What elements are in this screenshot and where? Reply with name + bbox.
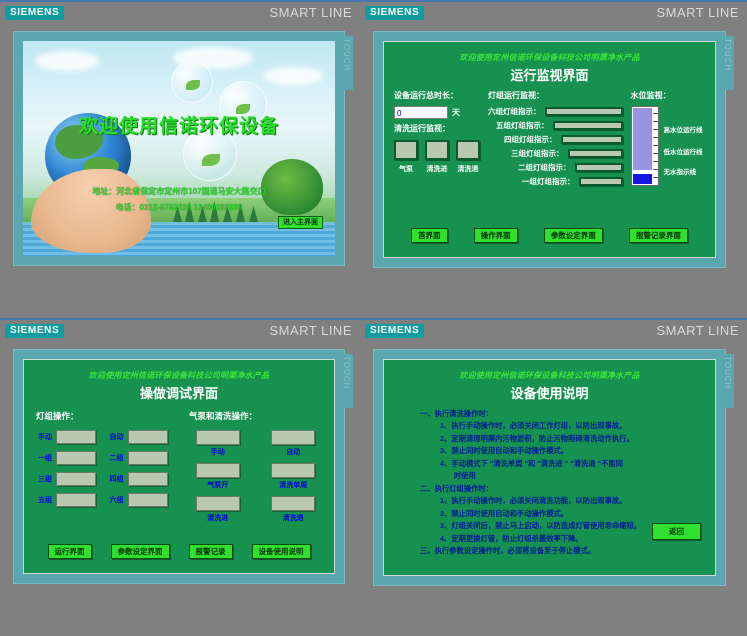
clean-reverse-label: 清洗退 [271, 513, 315, 523]
lamp-g4-button[interactable] [128, 472, 168, 486]
lamp-row: 六组灯组指示： [488, 106, 623, 117]
instruction-line: 2、禁止同时使用自动和手动操作模式。 [440, 509, 705, 519]
smart-line-label: SMART LINE [656, 323, 739, 338]
nav-button-row: 首界面 操作界面 参数设定界面 报警记录界面 [384, 228, 715, 243]
indicator-clean-forward [425, 140, 449, 160]
lamp-label: 六组灯组指示： [488, 106, 541, 117]
nav-alarm-record-button[interactable]: 报警记录 [189, 544, 233, 559]
lamp-g3-button[interactable] [56, 472, 96, 486]
lamp-g4-label: 四组 [108, 474, 124, 484]
device-frame: TOUCH 欢迎使用定州信诺环保设备科技公司明渠净水产品 运行监视界面 设备运行… [373, 31, 726, 268]
runtime-label: 设备运行总时长： [394, 90, 480, 101]
device-frame: TOUCH 欢迎使用定州信诺环保设备科技公司明渠净水产品 操做调试界面 灯组操作… [13, 349, 345, 584]
label-clean-reverse: 清洗退 [456, 164, 480, 174]
lamp-auto-button[interactable] [128, 430, 168, 444]
device-frame: TOUCH [13, 31, 345, 266]
pump-on-label: 气泵开 [196, 480, 240, 490]
runtime-field-row: 0 天 [394, 106, 480, 119]
lamp-manual-button[interactable] [56, 430, 96, 444]
operation-screen: 欢迎使用定州信诺环保设备科技公司明渠净水产品 操做调试界面 灯组操作： 手动 自… [23, 359, 335, 574]
lamp-bar-6 [545, 107, 623, 116]
lamp-g6-label: 六组 [108, 495, 124, 505]
lamp-g5-button[interactable] [56, 493, 96, 507]
touch-tab: TOUCH [344, 36, 353, 90]
pump-operation-head: 气泵和清洗操作： [189, 410, 322, 422]
lamp-g1-label: 一组 [36, 453, 52, 463]
touch-tab: TOUCH [344, 354, 353, 408]
instruction-line: 二、执行灯组操作时： [420, 484, 705, 494]
lamp-auto-row: 自动 [108, 430, 170, 444]
lamp-label: 二组灯组指示： [518, 162, 571, 173]
nav-button-row: 运行界面 参数设定界面 报警记录 设备使用说明 [24, 544, 334, 559]
lamp-bar-4 [561, 135, 623, 144]
lamp-row: 二组灯组指示： [488, 162, 623, 173]
lamp-g1-row: 一组 [36, 451, 98, 465]
screen-welcome-text: 欢迎使用定州信诺环保设备科技公司明渠净水产品 [24, 360, 334, 381]
chrome-bar: SIEMENS SMART LINE [0, 0, 360, 26]
pump-operation-group: 气泵和清洗操作： 手动 自动 [189, 410, 322, 523]
page-title: 运行监视界面 [384, 65, 715, 84]
top-accent-line [0, 318, 360, 320]
nav-run-screen-button[interactable]: 运行界面 [48, 544, 92, 559]
chrome-bar: SIEMENS SMART LINE [360, 318, 747, 344]
lamp-row: 四组灯组指示： [488, 134, 623, 145]
mark-no-water: 无水指示线 [664, 166, 697, 176]
water-level-column: 水位监视： [631, 90, 717, 190]
lamp-bar-1 [579, 177, 623, 186]
chrome-bar: SIEMENS SMART LINE [360, 0, 747, 26]
lamp-bar-2 [575, 163, 623, 172]
back-button[interactable]: 返回 [652, 523, 701, 540]
screenshot-grid: SIEMENS SMART LINE TOUCH [0, 0, 747, 636]
instruction-line: 1、执行手动操作时，必须关闭工作灯组，以防出现事故。 [440, 421, 705, 431]
page-title: 设备使用说明 [384, 383, 715, 402]
hmi-panel-operation: SIEMENS SMART LINE TOUCH 欢迎使用定州信诺环保设备科技公… [0, 318, 360, 636]
touch-tab: TOUCH [725, 354, 734, 408]
cloud-icon [263, 67, 323, 85]
smart-line-label: SMART LINE [269, 5, 352, 20]
pump-manual-cell: 手动 [196, 430, 240, 457]
lamp-g4-row: 四组 [108, 472, 170, 486]
mark-low-level: 低水位运行线 [664, 146, 703, 156]
instruction-line: 三、执行参数设定操作时，必须将设备至于停止模式。 [420, 546, 705, 556]
clean-reverse-button[interactable] [271, 496, 315, 511]
instruction-line: 1、执行手动操作时，必须关闭清洗功能，以防出现事故。 [440, 496, 705, 506]
pump-manual-label: 手动 [196, 447, 240, 457]
instruction-line: 一、执行清洗操作时： [420, 409, 705, 419]
lamp-label: 一组灯组指示： [522, 176, 575, 187]
sprout-icon [186, 80, 200, 90]
hmi-panel-monitoring: SIEMENS SMART LINE TOUCH 欢迎使用定州信诺环保设备科技公… [360, 0, 747, 318]
tank-level-lower [633, 174, 652, 184]
clean-cycle-cell: 清洗单周 [271, 463, 315, 490]
lamp-row: 五组灯组指示： [488, 120, 623, 131]
operation-content: 灯组操作： 手动 自动 一组 [24, 402, 334, 523]
pump-auto-label: 自动 [271, 447, 315, 457]
smart-line-label: SMART LINE [269, 323, 352, 338]
lamp-button-grid: 手动 自动 一组 二组 [36, 430, 169, 507]
screen-welcome-text: 欢迎使用定州信诺环保设备科技公司明渠净水产品 [384, 42, 715, 63]
top-accent-line [0, 0, 360, 2]
clean-indicator-row [394, 140, 480, 160]
pump-auto-cell: 自动 [271, 430, 315, 457]
instructions-screen: 欢迎使用定州信诺环保设备科技公司明渠净水产品 设备使用说明 一、执行清洗操作时：… [383, 359, 716, 576]
enter-main-screen-button[interactable]: 进入主界面 [278, 216, 323, 229]
monitor-screen: 欢迎使用定州信诺环保设备科技公司明渠净水产品 运行监视界面 设备运行总时长： 0… [383, 41, 716, 258]
bubble-icon [171, 61, 213, 103]
nav-alarm-log-button[interactable]: 报警记录界面 [629, 228, 688, 243]
lamp-row: 三组灯组指示： [488, 148, 623, 159]
water-tank-gauge [631, 106, 659, 186]
nav-home-button[interactable]: 首界面 [411, 228, 448, 243]
instruction-list: 一、执行清洗操作时： 1、执行手动操作时，必须关闭工作灯组，以防出现事故。 2、… [384, 402, 715, 556]
indicator-clean-reverse [456, 140, 480, 160]
tank-level-upper [633, 108, 652, 170]
monitor-content: 设备运行总时长： 0 天 清洗运行监视： 气泵 [384, 90, 715, 190]
pump-on-cell: 气泵开 [196, 463, 240, 490]
lamp-group-label: 灯组运行监视： [488, 90, 623, 101]
lamp-manual-row: 手动 [36, 430, 98, 444]
cloud-icon [35, 51, 99, 71]
lamp-g2-row: 二组 [108, 451, 170, 465]
touch-label: TOUCH [723, 38, 732, 71]
chrome-bar: SIEMENS SMART LINE [0, 318, 360, 344]
instruction-line: 时使用 [454, 471, 705, 481]
nav-manual-button[interactable]: 设备使用说明 [252, 544, 311, 559]
instruction-line: 3、禁止同时使用自动和手动操作模式。 [440, 446, 705, 456]
lamp-g2-button[interactable] [128, 451, 168, 465]
clean-forward-button[interactable] [196, 496, 240, 511]
clean-reverse-cell: 清洗退 [271, 496, 315, 523]
lamp-manual-label: 手动 [36, 432, 52, 442]
lamp-g3-row: 三组 [36, 472, 98, 486]
welcome-photo: 欢迎使用信诺环保设备 地址：河北省保定市定州市107国道马安大路交口 电话：03… [23, 41, 335, 256]
address-line: 地址：河北省保定市定州市107国道马安大路交口 [23, 186, 335, 197]
tank-scale [652, 107, 658, 185]
clean-monitor-label: 清洗运行监视： [394, 123, 480, 134]
lamp-g5-row: 五组 [36, 493, 98, 507]
sprout-icon [202, 154, 220, 166]
lamp-g3-label: 三组 [36, 474, 52, 484]
instruction-line: 4、手动模式下 "清洗单周 "和 "清洗进 " "清洗退 "不能同 [440, 459, 705, 469]
lamp-label: 五组灯组指示： [496, 120, 549, 131]
lamp-g6-button[interactable] [128, 493, 168, 507]
touch-label: TOUCH [723, 356, 732, 389]
clean-cycle-button[interactable] [271, 463, 315, 478]
top-accent-line [360, 318, 747, 320]
lamp-auto-label: 自动 [108, 432, 124, 442]
hmi-panel-instructions: SIEMENS SMART LINE TOUCH 欢迎使用定州信诺环保设备科技公… [360, 318, 747, 636]
label-air-pump: 气泵 [394, 164, 418, 174]
water-level-label: 水位监视： [631, 90, 717, 101]
phone-line: 电话：0312-6752228 13400288889 [23, 202, 335, 213]
clean-cycle-label: 清洗单周 [271, 480, 315, 490]
label-clean-forward: 清洗进 [425, 164, 449, 174]
clean-forward-label: 清洗进 [196, 513, 240, 523]
indicator-air-pump [394, 140, 418, 160]
runtime-value-input[interactable]: 0 [394, 106, 448, 119]
pump-manual-button[interactable] [196, 430, 240, 445]
lamp-g2-label: 二组 [108, 453, 124, 463]
lamp-row: 一组灯组指示： [488, 176, 623, 187]
nav-operation-button[interactable]: 操作界面 [474, 228, 518, 243]
touch-tab: TOUCH [725, 36, 734, 90]
pump-auto-button[interactable] [271, 430, 315, 445]
siemens-logo: SIEMENS [5, 324, 64, 338]
screen-welcome-text: 欢迎使用定州信诺环保设备科技公司明渠净水产品 [384, 360, 715, 381]
siemens-logo: SIEMENS [5, 6, 64, 20]
nav-parameter-button[interactable]: 参数设定界面 [544, 228, 603, 243]
hmi-panel-welcome: SIEMENS SMART LINE TOUCH [0, 0, 360, 318]
touch-label: TOUCH [342, 356, 351, 389]
device-frame: TOUCH 欢迎使用定州信诺环保设备科技公司明渠净水产品 设备使用说明 一、执行… [373, 349, 726, 586]
lamp-operation-group: 灯组操作： 手动 自动 一组 [36, 410, 169, 523]
siemens-logo: SIEMENS [365, 6, 424, 20]
pump-on-button[interactable] [196, 463, 240, 478]
lamp-label: 三组灯组指示： [511, 148, 564, 159]
clean-forward-cell: 清洗进 [196, 496, 240, 523]
instruction-line: 2、定期清理明渠内污物淤积，防止污物阻碍清洗动作执行。 [440, 434, 705, 444]
welcome-title: 欢迎使用信诺环保设备 [23, 111, 335, 138]
lamp-bar-3 [568, 149, 623, 158]
smart-line-label: SMART LINE [656, 5, 739, 20]
nav-parameter-button[interactable]: 参数设定界面 [111, 544, 170, 559]
lamp-operation-head: 灯组操作： [36, 410, 169, 422]
runtime-column: 设备运行总时长： 0 天 清洗运行监视： 气泵 [394, 90, 480, 190]
page-title: 操做调试界面 [24, 383, 334, 402]
top-accent-line [360, 0, 747, 2]
lamp-label: 四组灯组指示： [504, 134, 557, 145]
lamp-bar-5 [553, 121, 623, 130]
clean-indicator-labels: 气泵 清洗进 清洗退 [394, 164, 480, 174]
siemens-logo: SIEMENS [365, 324, 424, 338]
pump-button-grid: 手动 自动 气泵开 清 [189, 430, 322, 523]
runtime-unit: 天 [452, 107, 460, 118]
mark-high-level: 高水位运行线 [664, 124, 703, 134]
water-tank-widget: 高水位运行线 低水位运行线 无水指示线 [631, 106, 717, 186]
lamp-g1-button[interactable] [56, 451, 96, 465]
touch-label: TOUCH [342, 38, 351, 71]
lamp-g5-label: 五组 [36, 495, 52, 505]
lamp-monitor-column: 灯组运行监视： 六组灯组指示： 五组灯组指示： 四组灯组指示： [488, 90, 623, 190]
lamp-g6-row: 六组 [108, 493, 170, 507]
water-mark-labels: 高水位运行线 低水位运行线 无水指示线 [662, 106, 717, 186]
